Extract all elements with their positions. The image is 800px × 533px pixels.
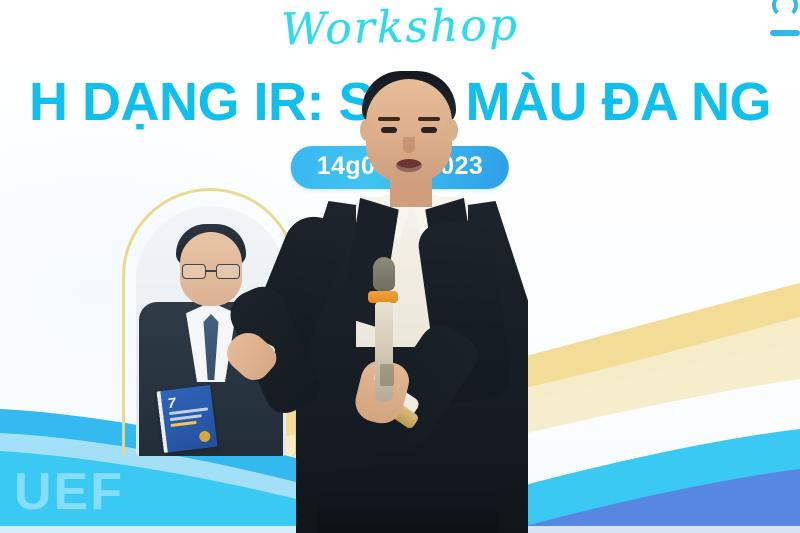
speaker-ear-right — [445, 119, 458, 141]
speaker-eye-left — [381, 127, 397, 133]
book-number: 7 — [167, 394, 177, 411]
speaker-trousers — [318, 481, 498, 533]
corner-accent-icon — [766, 0, 800, 44]
book-seal-icon — [199, 430, 211, 442]
mic-body — [375, 302, 393, 402]
event-photo-scene: UEF Workshop H DẠNG IR: SẮC MÀU ĐA NG 14… — [0, 0, 800, 533]
portrait-glasses-icon — [182, 264, 240, 279]
corner-ring-icon — [772, 0, 798, 18]
speaker-ear-left — [360, 119, 373, 141]
corner-bar-icon — [770, 30, 800, 36]
microphone — [372, 257, 396, 401]
speaker-mouth-speaking — [396, 159, 422, 172]
speaker-eye-right — [421, 127, 437, 133]
mic-label — [380, 364, 394, 386]
portrait-book: 7 — [156, 385, 217, 453]
workshop-script-label: Workshop — [280, 0, 519, 55]
speaker-nose — [403, 137, 415, 153]
speaker-eyebrow-right — [418, 117, 440, 121]
foreground-speaker — [238, 61, 578, 533]
mic-capsule — [373, 257, 395, 291]
book-title-lines — [169, 407, 210, 430]
speaker-eyebrow-left — [378, 117, 400, 121]
